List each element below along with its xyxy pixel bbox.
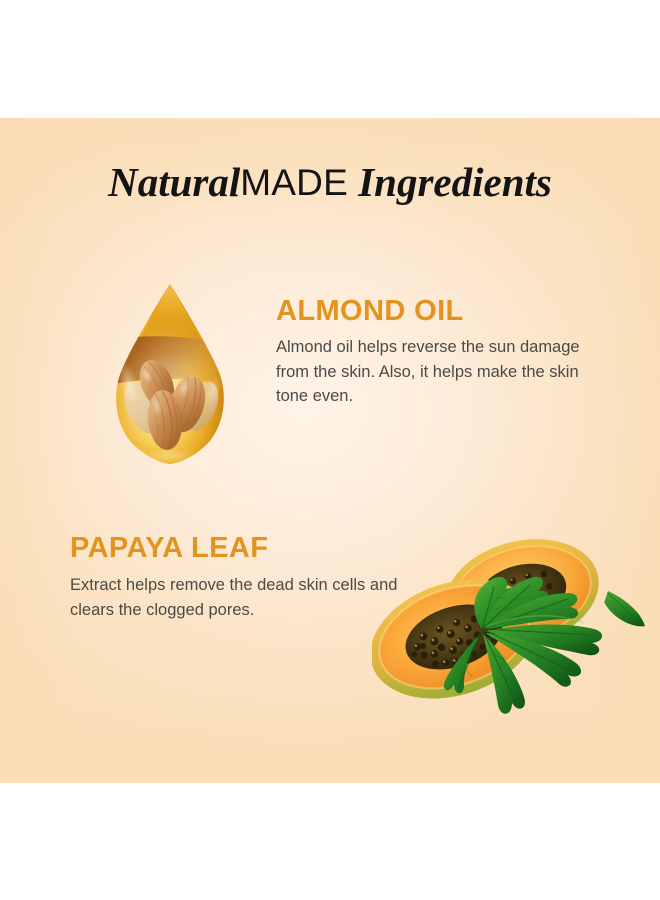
almond-oil-droplet-image xyxy=(95,280,245,470)
almond-oil-description: Almond oil helps reverse the sun damage … xyxy=(276,335,588,408)
almond-oil-heading: ALMOND OIL xyxy=(276,296,606,326)
product-ingredients-infographic: NaturalMADE Ingredients xyxy=(0,0,660,900)
papaya-fruit-leaf-image xyxy=(372,533,658,725)
title-part-natural: Natural xyxy=(108,159,240,205)
content-panel: NaturalMADE Ingredients xyxy=(0,118,660,783)
ingredient-papaya-leaf: PAPAYA LEAF Extract helps remove the dea… xyxy=(70,533,410,622)
title-part-ingredients: Ingredients xyxy=(348,159,552,205)
papaya-leaf-heading: PAPAYA LEAF xyxy=(70,533,410,563)
ingredient-almond-oil: ALMOND OIL Almond oil helps reverse the … xyxy=(276,296,606,408)
papaya-leaf-description: Extract helps remove the dead skin cells… xyxy=(70,573,400,622)
title-part-made: MADE xyxy=(240,162,348,203)
page-title: NaturalMADE Ingredients xyxy=(0,162,660,203)
